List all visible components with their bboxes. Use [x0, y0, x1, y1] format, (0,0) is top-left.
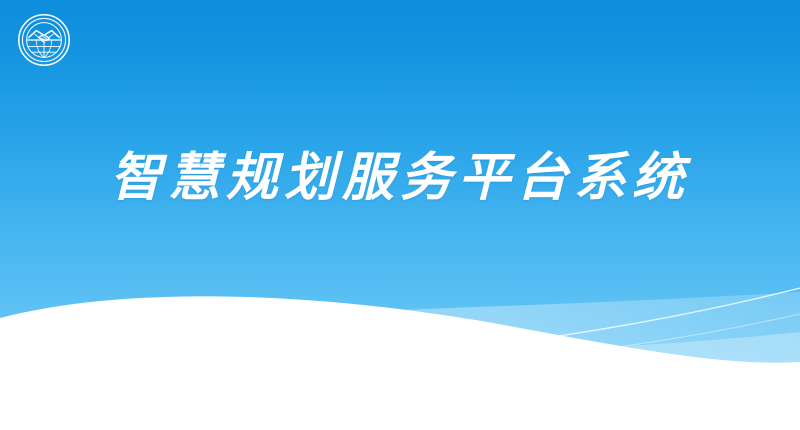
wave-svg — [0, 270, 800, 430]
wave-decoration — [0, 270, 800, 430]
organization-logo — [16, 12, 72, 68]
handshake-globe-icon — [16, 12, 72, 68]
splash-screen: 智慧规划服务平台系统 — [0, 0, 800, 430]
